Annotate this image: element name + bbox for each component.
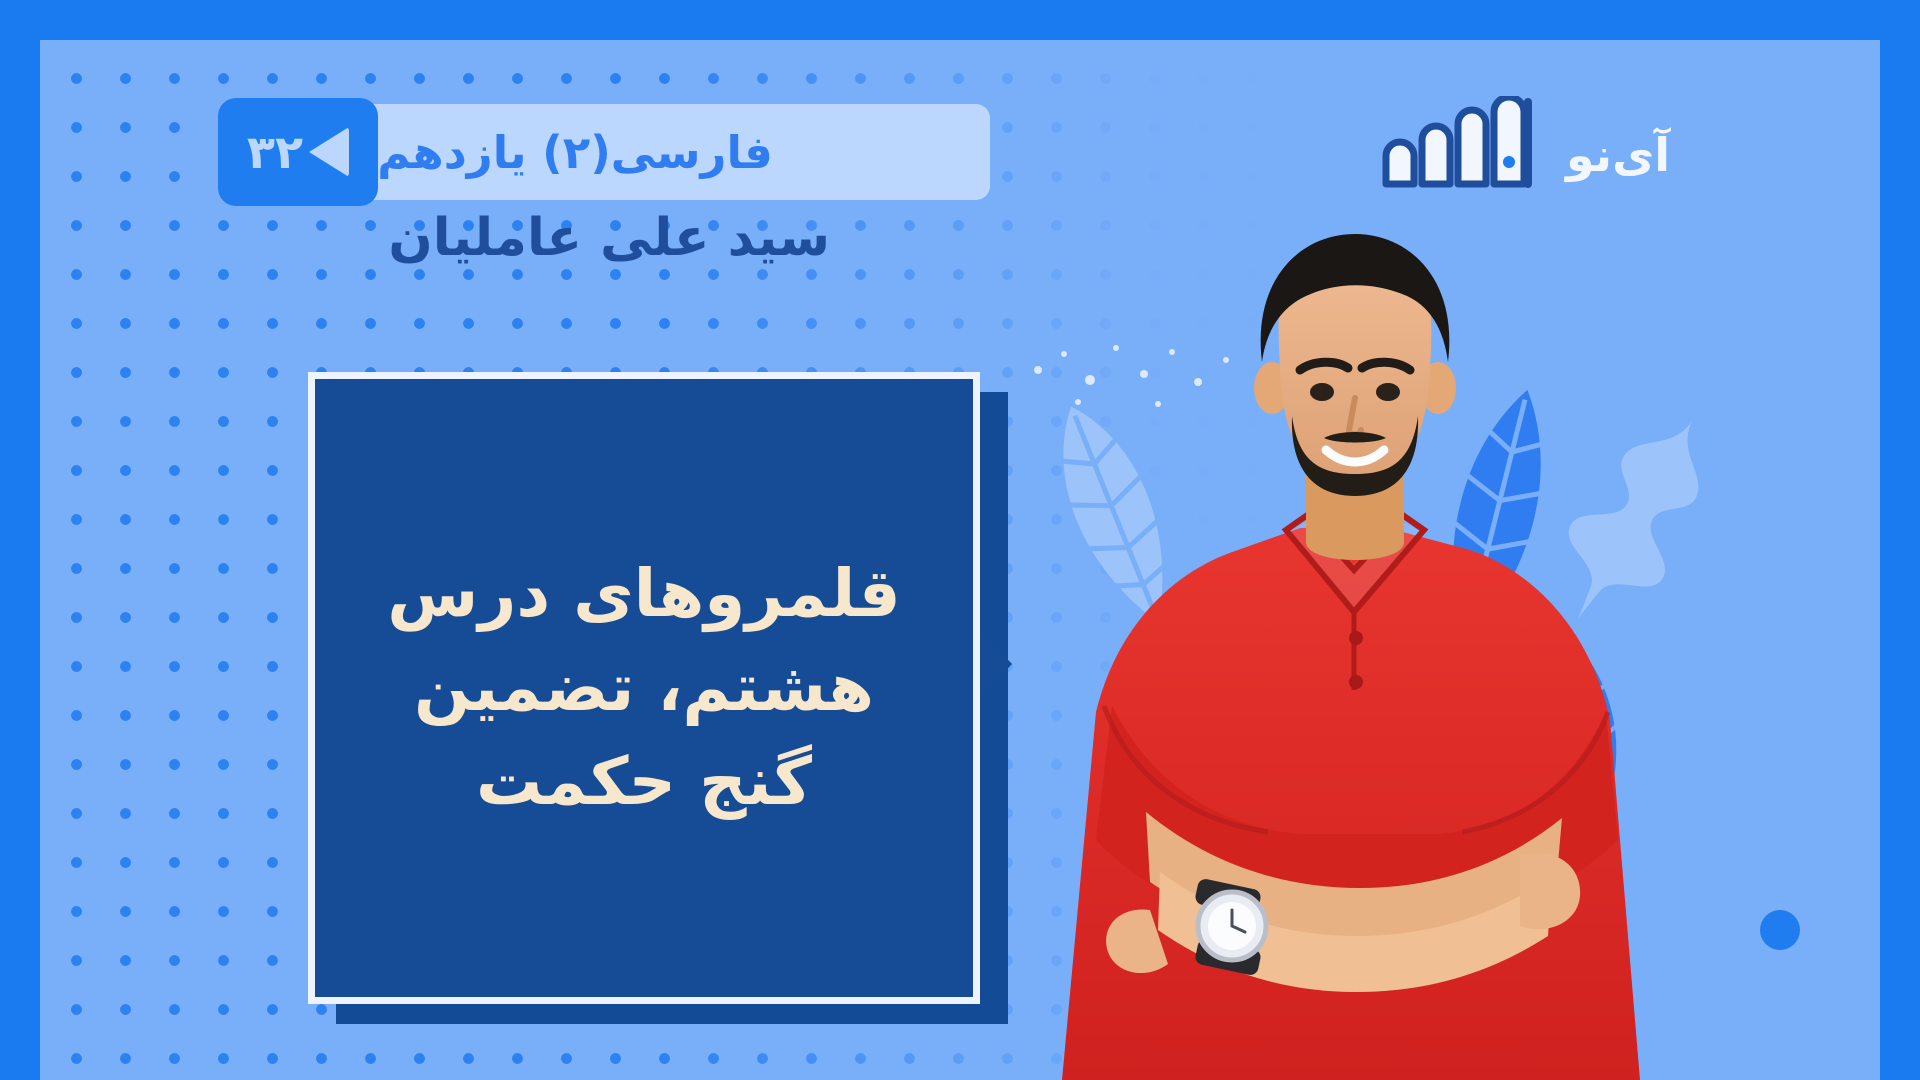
- dot-icon: [1760, 910, 1800, 950]
- course-title-pill: فارسی(۲) یازدهم: [310, 104, 990, 200]
- episode-number: ۳۲: [247, 129, 303, 175]
- lesson-title: قلمروهای درس هشتم، تضمین گنج حکمت: [315, 547, 973, 828]
- brand-wordmark: آی‌نو: [1566, 132, 1670, 188]
- episode-badge[interactable]: ۳۲: [218, 98, 378, 206]
- ino-logo-mark-icon: [1376, 96, 1552, 188]
- play-icon: [309, 127, 349, 177]
- presenter-photo: [1000, 220, 1700, 1080]
- brand-logo: آی‌نو: [1376, 96, 1670, 188]
- thumbnail-canvas: قلمروهای درس هشتم، تضمین گنج حکمت فارسی(…: [0, 0, 1920, 1080]
- lesson-card: قلمروهای درس هشتم، تضمین گنج حکمت: [308, 372, 980, 1004]
- instructor-name: سید علی عاملیان: [388, 208, 830, 268]
- course-title: فارسی(۲) یازدهم: [377, 126, 773, 179]
- header-row: فارسی(۲) یازدهم ۳۲: [310, 104, 990, 200]
